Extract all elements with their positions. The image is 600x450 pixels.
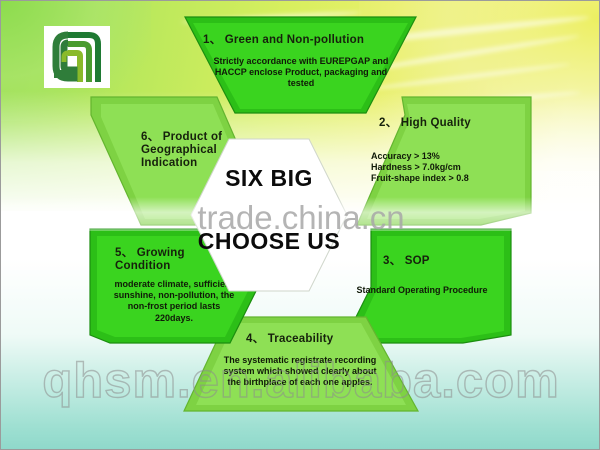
segment-2-number: 2 xyxy=(379,117,386,129)
segment-3-number: 3 xyxy=(383,255,390,267)
segment-3-body: Standard Operating Procedure xyxy=(355,285,489,296)
segment-1-title: Green and Non-pollution xyxy=(225,34,364,46)
segment-2-body: Accuracy > 13% Hardness > 7.0kg/cm Fruit… xyxy=(371,151,526,185)
segment-3-title: SOP xyxy=(405,255,430,267)
segment-4-title: Traceability xyxy=(268,333,334,345)
segment-6-sep: 、 xyxy=(148,131,160,143)
segment-5-number: 5 xyxy=(115,247,122,259)
segment-1-number: 1 xyxy=(203,34,210,46)
segment-3-sep: 、 xyxy=(390,255,402,267)
screenshot-root: 1、 Green and Non-pollution Strictly acco… xyxy=(0,0,600,450)
segment-5-sep: 、 xyxy=(122,247,134,259)
center-label: SIX BIG CHOOSE US xyxy=(189,159,349,263)
segment-2-high-quality[interactable]: 2、 High Quality Accuracy > 13% Hardness … xyxy=(355,95,533,227)
segment-6-number: 6 xyxy=(141,131,148,143)
center-line-2: CHOOSE US xyxy=(198,228,341,255)
segment-4-body: The systematic registrate recording syst… xyxy=(219,355,381,389)
segment-1-body: Strictly accordance with EUREPGAP and HA… xyxy=(210,56,392,90)
center-line-1: SIX BIG xyxy=(225,165,313,192)
segment-2-title: High Quality xyxy=(401,117,471,129)
segment-1-sep: 、 xyxy=(210,34,222,46)
segment-2-sep: 、 xyxy=(386,117,398,129)
